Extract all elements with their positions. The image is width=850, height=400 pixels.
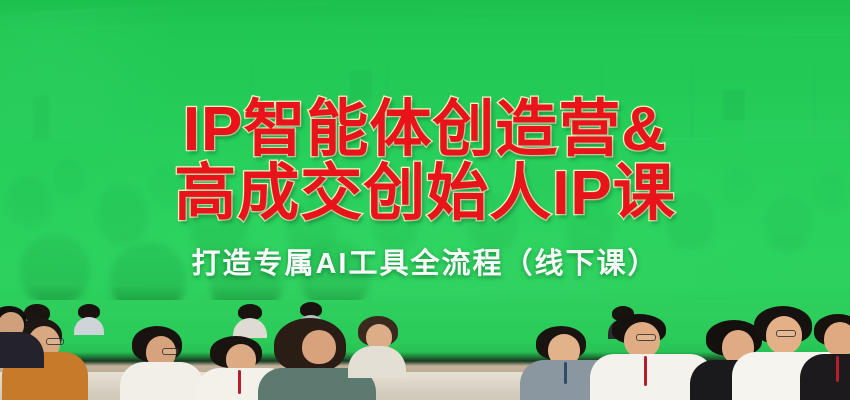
glasses-icon bbox=[46, 338, 64, 345]
glasses-icon bbox=[162, 348, 179, 355]
attendee-black-polo-right bbox=[806, 314, 850, 400]
promo-banner: IP智能体创造营& 高成交创始人IP课 打造专属AI工具全流程（线下课） bbox=[0, 0, 850, 400]
attendee-background bbox=[350, 316, 402, 372]
attendee-dark-top-left bbox=[0, 306, 44, 366]
glasses-icon bbox=[776, 330, 796, 337]
green-color-overlay bbox=[0, 0, 850, 310]
glasses-icon bbox=[636, 334, 656, 341]
front-row-audience bbox=[0, 300, 850, 400]
attendee-background bbox=[238, 304, 262, 336]
attendee-white-shirt-left bbox=[120, 326, 200, 400]
